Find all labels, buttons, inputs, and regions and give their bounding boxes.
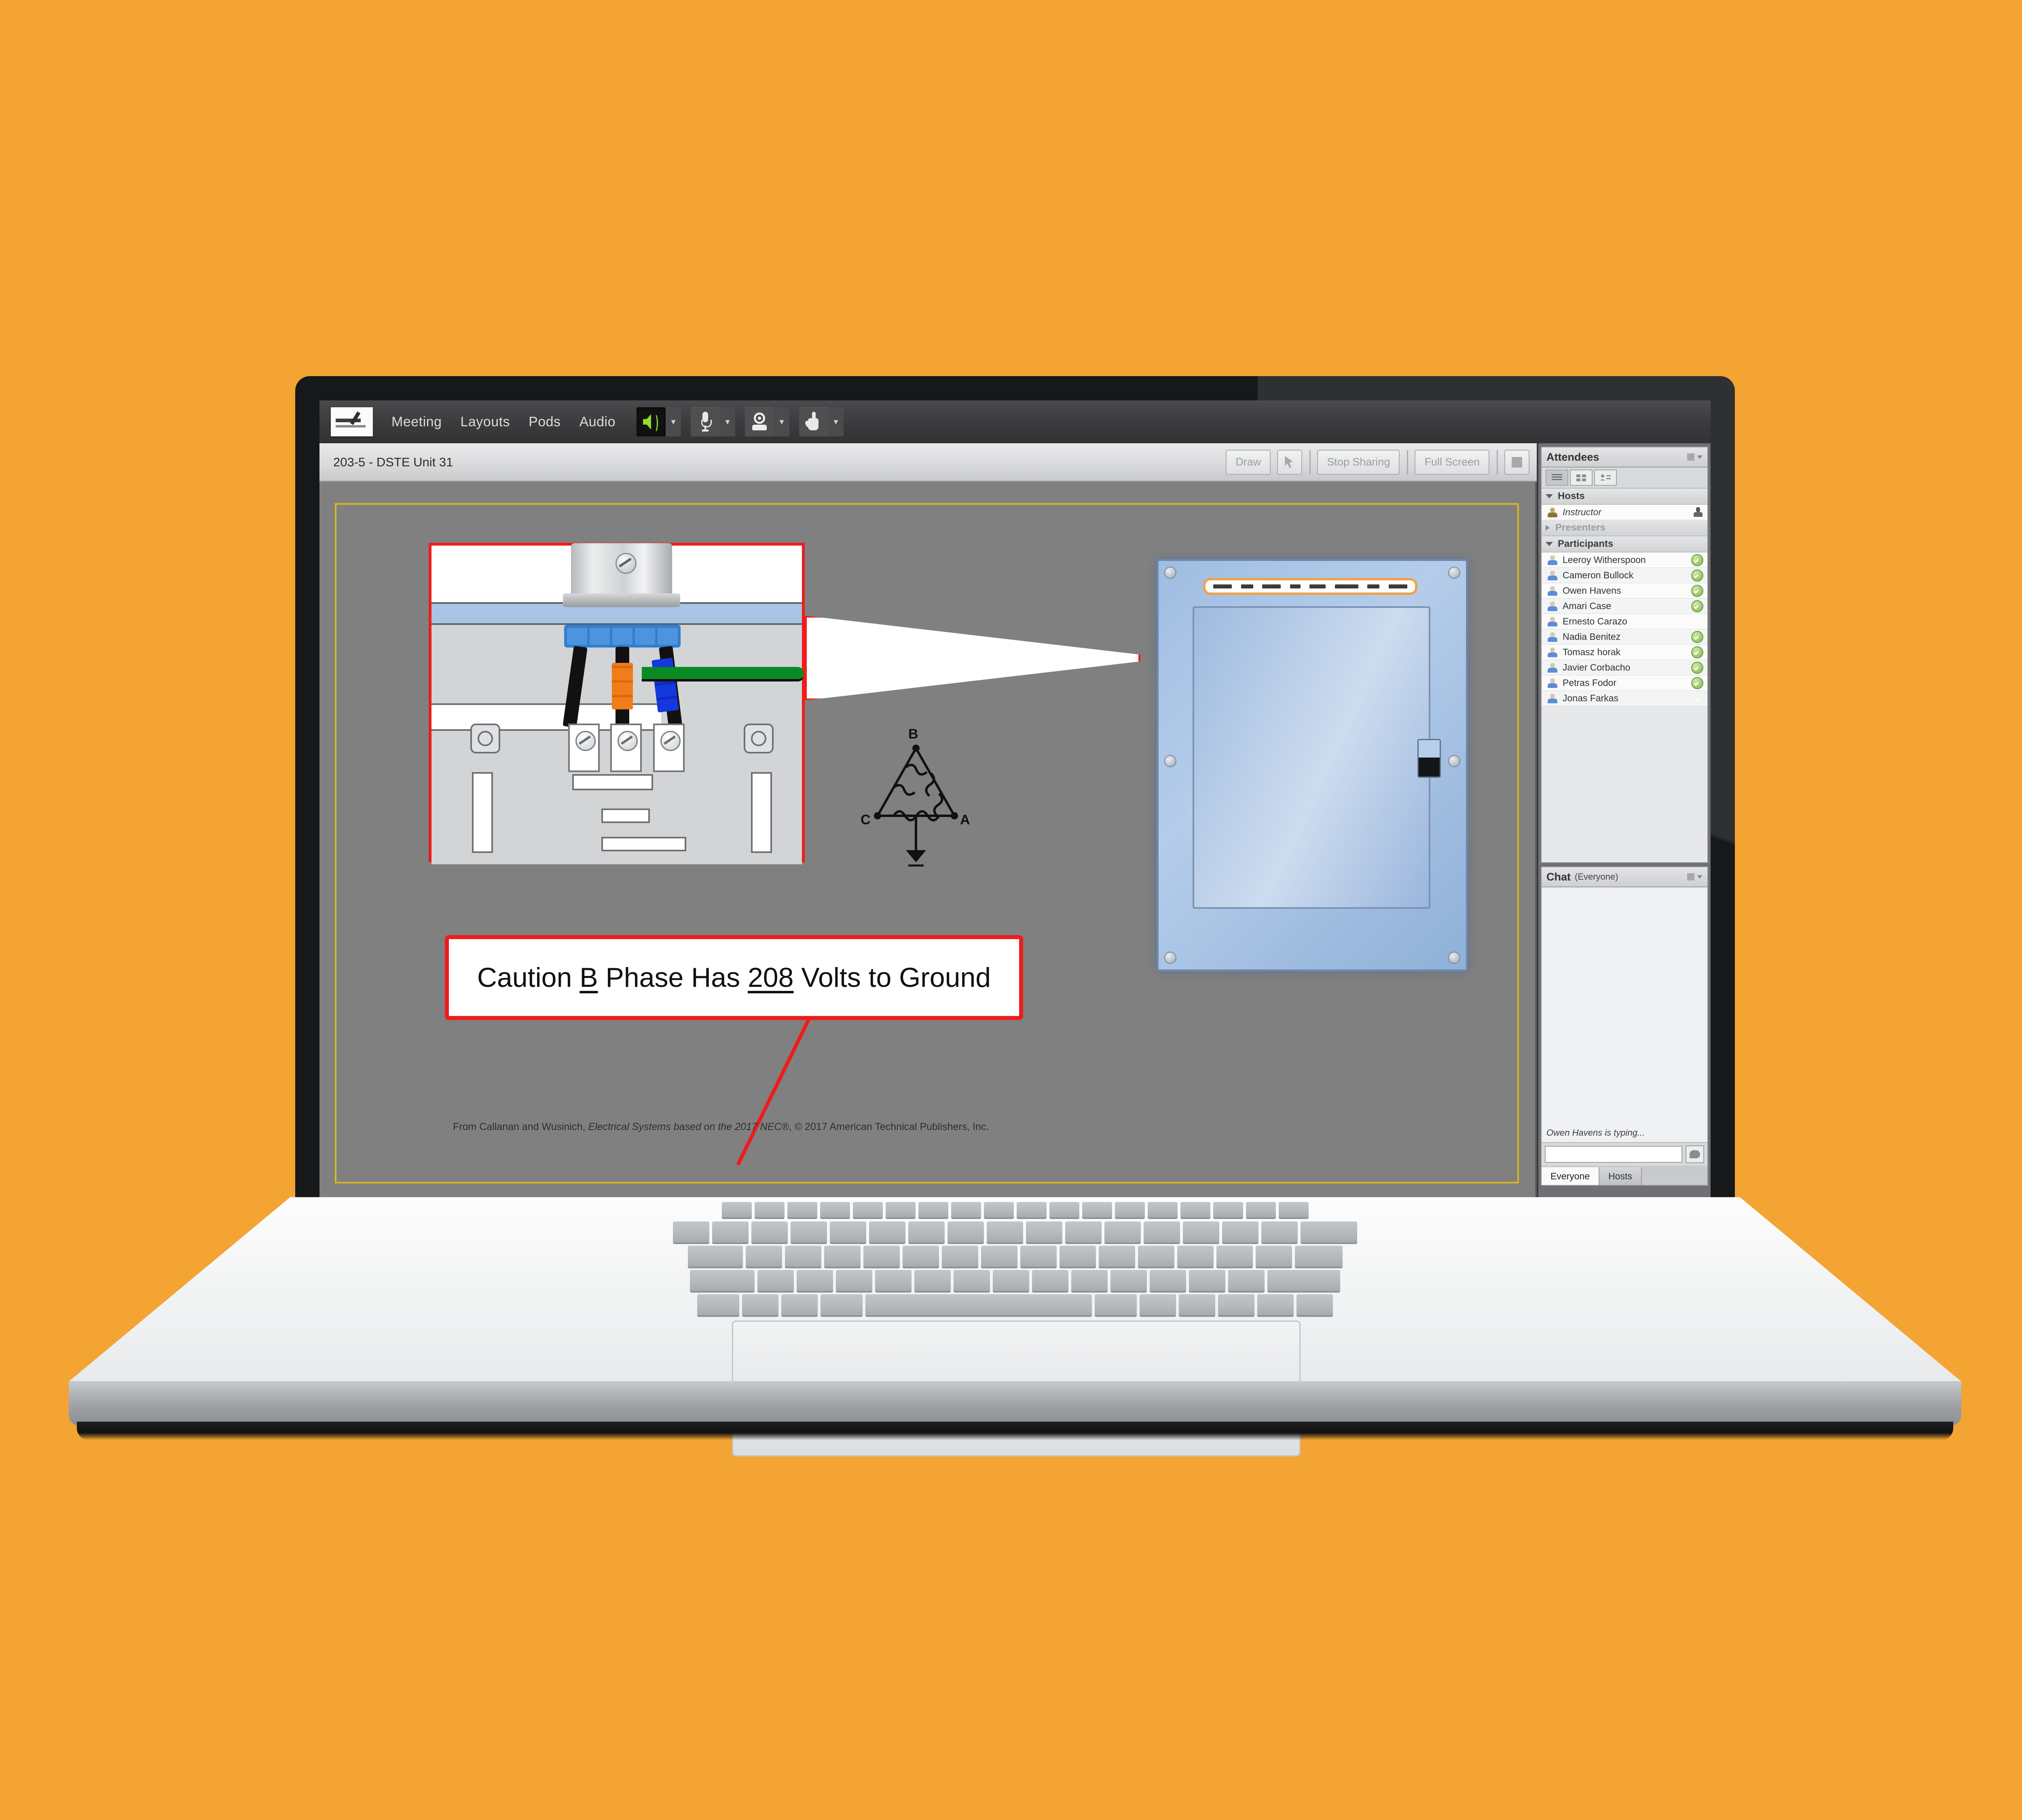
tab-everyone[interactable]: Everyone: [1542, 1167, 1599, 1185]
title-line-4: Interactive Lab: [1973, 624, 2022, 719]
speaker-icon: [643, 412, 659, 432]
keyboard-key[interactable]: [746, 1246, 782, 1267]
keyboard-key[interactable]: [1216, 1246, 1253, 1267]
keyboard-key[interactable]: [993, 1270, 1029, 1291]
delta-label-c: C: [861, 812, 871, 828]
grid-view-icon[interactable]: [1570, 470, 1593, 486]
chat-typing-status: Owen Havens is typing...: [1546, 1128, 1645, 1138]
keyboard-key[interactable]: [1179, 1294, 1215, 1315]
keyboard-key[interactable]: [673, 1221, 709, 1242]
attendees-pod-title: Attendees: [1546, 451, 1599, 463]
raise-hand-dropdown-caret[interactable]: ▾: [828, 407, 844, 436]
chevron-down-icon: [1697, 455, 1703, 459]
keyboard-row: [69, 1202, 1961, 1217]
panelboard-illustration: [1157, 559, 1468, 971]
chevron-right-icon: [1546, 525, 1550, 531]
keyboard-key[interactable]: [869, 1221, 905, 1242]
keyboard-key[interactable]: [1246, 1202, 1276, 1217]
keyboard-key[interactable]: [1020, 1246, 1057, 1267]
keyboard-key[interactable]: [1180, 1202, 1210, 1217]
keyboard-key[interactable]: [1026, 1221, 1062, 1242]
attendees-view-toolbar: [1542, 468, 1707, 489]
chat-pod-title: Chat: [1546, 871, 1571, 883]
keyboard-key[interactable]: [751, 1221, 788, 1242]
share-pod-title: 203-5 - DSTE Unit 31: [327, 455, 1219, 470]
keyboard-row: [69, 1246, 1961, 1267]
keyboard-key[interactable]: [1140, 1294, 1176, 1315]
attendee-name: Ernesto Carazo: [1563, 616, 1627, 627]
full-screen-button[interactable]: Full Screen: [1415, 450, 1489, 475]
keyboard-key[interactable]: [875, 1270, 912, 1291]
keyboard-key[interactable]: [1065, 1221, 1102, 1242]
attendee-name: Javier Corbacho: [1563, 662, 1630, 673]
participant-avatar-icon: [1547, 632, 1558, 642]
mounting-screw-right: [744, 724, 774, 753]
keyboard-key[interactable]: [954, 1270, 990, 1291]
chevron-down-icon: [1546, 542, 1553, 546]
agree-status-icon: [1691, 677, 1703, 689]
keyboard-row: [69, 1294, 1961, 1315]
keyboard-key[interactable]: [1213, 1202, 1243, 1217]
delta-transformer-diagram: B C A: [829, 729, 1003, 891]
keyboard-key[interactable]: [865, 1294, 1092, 1315]
title-line-3: with Online: [1973, 529, 2022, 624]
attendee-row[interactable]: Leeroy Witherspoon: [1542, 552, 1707, 568]
attendee-name: Jonas Farkas: [1563, 693, 1618, 704]
keyboard-key[interactable]: [797, 1270, 833, 1291]
participant-list: Leeroy WitherspoonCameron BullockOwen Ha…: [1542, 552, 1707, 706]
delta-label-b: B: [908, 726, 918, 742]
keyboard-key[interactable]: [821, 1294, 863, 1315]
keyboard-key[interactable]: [1301, 1221, 1357, 1242]
keyboard-key[interactable]: [948, 1221, 984, 1242]
chat-scope-tabs: Everyone Hosts: [1542, 1166, 1707, 1185]
busbar-link-3: [601, 837, 686, 851]
participant-avatar-icon: [1547, 647, 1558, 658]
attendees-pod-menu-button[interactable]: [1687, 453, 1703, 461]
attendee-row[interactable]: Ernesto Carazo: [1542, 614, 1707, 629]
keyboard-key[interactable]: [984, 1202, 1014, 1217]
attendee-row[interactable]: Amari Case: [1542, 599, 1707, 614]
participant-avatar-icon: [1547, 586, 1558, 596]
pointer-button[interactable]: [1277, 450, 1302, 475]
keyboard-key[interactable]: [824, 1246, 861, 1267]
chevron-down-icon: [1697, 875, 1703, 879]
title-line-1: GetWired 203: [1973, 340, 2022, 434]
keyboard-key[interactable]: [1148, 1202, 1178, 1217]
keyboard-key[interactable]: [987, 1221, 1023, 1242]
keyboard-key[interactable]: [1257, 1294, 1294, 1315]
host-role-badge-icon: [1693, 507, 1703, 518]
terminal-a: [568, 724, 600, 772]
breaker-connector: [564, 625, 681, 648]
attendee-name: Instructor: [1563, 507, 1601, 518]
tab-hosts[interactable]: Hosts: [1599, 1167, 1642, 1185]
caution-text: Caution B Phase Has 208 Volts to Ground: [477, 962, 991, 993]
right-pod-column: Attendees: [1538, 443, 1711, 1197]
speaker-button[interactable]: [637, 407, 666, 436]
webcam-dropdown-caret[interactable]: ▾: [774, 407, 789, 436]
keyboard-key[interactable]: [886, 1202, 916, 1217]
attendee-row-instructor[interactable]: Instructor: [1542, 505, 1707, 520]
attendee-name: Leeroy Witherspoon: [1563, 554, 1646, 565]
keyboard-key[interactable]: [712, 1221, 749, 1242]
keyboard-key[interactable]: [722, 1202, 752, 1217]
list-view-icon[interactable]: [1546, 470, 1568, 486]
attendee-row[interactable]: Nadia Benitez: [1542, 629, 1707, 645]
keyboard-key[interactable]: [903, 1246, 939, 1267]
microphone-icon: [701, 412, 709, 432]
keyboard-key[interactable]: [1189, 1270, 1225, 1291]
busbar-link-1: [572, 774, 653, 790]
orange-phase-tape: [612, 663, 633, 709]
attendee-row[interactable]: Cameron Bullock: [1542, 568, 1707, 583]
keyboard-key[interactable]: [1218, 1294, 1254, 1315]
ground-wire: [642, 667, 804, 681]
keyboard-key[interactable]: [1150, 1270, 1186, 1291]
group-header-participants[interactable]: Participants: [1542, 536, 1707, 552]
agree-status-icon: [1691, 646, 1703, 658]
attendee-row[interactable]: Javier Corbacho: [1542, 660, 1707, 675]
agree-status-icon: [1691, 585, 1703, 597]
keyboard-key[interactable]: [787, 1202, 817, 1217]
keyboard-key[interactable]: [781, 1294, 818, 1315]
adobe-connect-app: Meeting Layouts Pods Audio ▾ ▾: [319, 400, 1711, 1197]
agree-status-icon: [1691, 554, 1703, 566]
share-pod-menu-button[interactable]: [1504, 450, 1529, 475]
delta-label-a: A: [960, 812, 970, 828]
host-avatar-icon: [1547, 507, 1558, 518]
chat-bubble-icon: [1690, 1150, 1700, 1158]
menu-item-pods[interactable]: Pods: [529, 414, 561, 430]
adobe-connect-logo-icon: [331, 407, 373, 436]
keyboard-key[interactable]: [1144, 1221, 1180, 1242]
keyboard-key[interactable]: [1049, 1202, 1079, 1217]
keyboard-key[interactable]: [836, 1270, 872, 1291]
busbar-right: [751, 772, 772, 853]
share-pod-stage: B C A Caution B Phase Has 208 Volts to G…: [319, 482, 1537, 1197]
attendee-name: Tomasz horak: [1563, 647, 1620, 658]
participant-avatar-icon: [1547, 555, 1558, 565]
keyboard-key[interactable]: [1256, 1246, 1292, 1267]
keyboard-key[interactable]: [1032, 1270, 1068, 1291]
group-header-presenters[interactable]: Presenters: [1542, 520, 1707, 536]
keyboard-key[interactable]: [1095, 1294, 1137, 1315]
chat-pod: Chat (Everyone) Owen Havens is typing...: [1541, 866, 1708, 1186]
panel-door: [1193, 606, 1430, 909]
menu-item-audio[interactable]: Audio: [580, 414, 615, 430]
keyboard-key[interactable]: [1115, 1202, 1145, 1217]
keyboard-key[interactable]: [1222, 1221, 1258, 1242]
keyboard-key[interactable]: [1071, 1270, 1108, 1291]
keyboard-key[interactable]: [853, 1202, 883, 1217]
laptop-mockup: Meeting Layouts Pods Audio ▾ ▾: [69, 376, 1961, 1452]
attendee-name: Amari Case: [1563, 601, 1611, 612]
toolbar-divider: [1407, 450, 1408, 474]
keyboard-key[interactable]: [1228, 1270, 1265, 1291]
keyboard-key[interactable]: [755, 1202, 785, 1217]
attendee-name: Petras Fodor: [1563, 677, 1616, 688]
keyboard-key[interactable]: [1138, 1246, 1174, 1267]
group-label-presenters: Presenters: [1555, 522, 1605, 533]
laptop-front-edge: [69, 1381, 1961, 1426]
keyboard-key[interactable]: [1110, 1270, 1147, 1291]
keyboard-key[interactable]: [1267, 1270, 1340, 1291]
keyboard-key[interactable]: [918, 1202, 948, 1217]
keyboard-key[interactable]: [1183, 1221, 1219, 1242]
participant-avatar-icon: [1547, 662, 1558, 673]
attendee-name: Nadia Benitez: [1563, 631, 1620, 642]
participant-avatar-icon: [1547, 678, 1558, 688]
keyboard-key[interactable]: [1082, 1202, 1112, 1217]
chat-message-area[interactable]: Owen Havens is typing...: [1542, 887, 1707, 1142]
attendee-name: Owen Havens: [1563, 585, 1621, 596]
raise-hand-icon: [806, 412, 822, 432]
pod-menu-icon: [1687, 453, 1694, 461]
keyboard-key[interactable]: [690, 1270, 755, 1291]
breaker-slot-row: [1203, 578, 1417, 595]
keyboard-key[interactable]: [951, 1202, 981, 1217]
toolbar-divider: [1309, 450, 1311, 474]
slide-attribution: From Callanan and Wusinich, Electrical S…: [453, 1121, 989, 1133]
menu-item-meeting[interactable]: Meeting: [391, 414, 442, 430]
keyboard-row: [69, 1221, 1961, 1242]
keyboard-key[interactable]: [863, 1246, 900, 1267]
keyboard-key[interactable]: [1295, 1246, 1343, 1267]
chat-pod-menu-button[interactable]: [1687, 873, 1703, 880]
participant-avatar-icon: [1547, 616, 1558, 627]
keyboard-key[interactable]: [757, 1270, 794, 1291]
attendee-name: Cameron Bullock: [1563, 570, 1633, 581]
webcam-icon: [751, 413, 768, 431]
app-menubar: Meeting Layouts Pods Audio ▾ ▾: [319, 400, 1711, 443]
group-header-hosts[interactable]: Hosts: [1542, 489, 1707, 505]
no-status: [1693, 693, 1703, 704]
menu-item-layouts[interactable]: Layouts: [460, 414, 510, 430]
chat-input[interactable]: [1545, 1146, 1682, 1163]
keyboard-key[interactable]: [1261, 1221, 1298, 1242]
speaker-dropdown-caret[interactable]: ▾: [666, 407, 681, 436]
chevron-down-icon: [1546, 494, 1553, 498]
keyboard-row: [69, 1270, 1961, 1291]
keyboard-key[interactable]: [1279, 1202, 1309, 1217]
keyboard-key[interactable]: [942, 1246, 978, 1267]
attendees-pod: Attendees: [1541, 447, 1708, 863]
terminal-c: [653, 724, 685, 772]
keyboard-key[interactable]: [820, 1202, 850, 1217]
stop-sharing-button[interactable]: Stop Sharing: [1317, 450, 1400, 475]
mounting-screw-left: [470, 724, 500, 753]
keyboard-key[interactable]: [1104, 1221, 1141, 1242]
keyboard-key[interactable]: [785, 1246, 821, 1267]
laptop-keyboard[interactable]: [69, 1197, 1961, 1318]
title-line-5: Experience): [1973, 719, 2022, 813]
attendee-row[interactable]: Tomasz horak: [1542, 645, 1707, 660]
pointer-icon: [1285, 456, 1294, 468]
attendee-row[interactable]: Jonas Farkas: [1542, 691, 1707, 706]
keyboard-key[interactable]: [914, 1270, 951, 1291]
laptop-screen: Meeting Layouts Pods Audio ▾ ▾: [319, 400, 1711, 1197]
webcam-button[interactable]: [745, 407, 774, 436]
name-sort-icon[interactable]: [1594, 470, 1617, 486]
toolbar-divider: [1497, 450, 1498, 474]
keyboard-key[interactable]: [981, 1246, 1017, 1267]
busbar-left: [472, 772, 493, 853]
agree-status-icon: [1691, 662, 1703, 674]
participant-avatar-icon: [1547, 693, 1558, 704]
title-line-2: (Instructor-Led: [1973, 434, 2022, 529]
group-label-hosts: Hosts: [1558, 491, 1585, 502]
microphone-dropdown-caret[interactable]: ▾: [720, 407, 735, 436]
chat-send-button[interactable]: [1686, 1145, 1704, 1163]
draw-button[interactable]: Draw: [1226, 450, 1271, 475]
keyboard-key[interactable]: [1060, 1246, 1096, 1267]
pod-menu-icon: [1687, 873, 1694, 880]
attendees-pod-header: Attendees: [1542, 447, 1707, 468]
chat-pod-header: Chat (Everyone): [1542, 867, 1707, 887]
panel-latch: [1417, 739, 1441, 778]
caution-callout-box: Caution B Phase Has 208 Volts to Ground: [445, 935, 1023, 1020]
keyboard-key[interactable]: [688, 1246, 743, 1267]
keyboard-key[interactable]: [1099, 1246, 1135, 1267]
agree-status-icon: [1691, 600, 1703, 612]
attendee-row[interactable]: Owen Havens: [1542, 583, 1707, 599]
group-label-participants: Participants: [1558, 538, 1613, 550]
keyboard-key[interactable]: [1177, 1246, 1214, 1267]
participant-avatar-icon: [1547, 570, 1558, 581]
toolbar-speaker-group: ▾ ▾ ▾ ▾: [637, 407, 853, 436]
pod-menu-icon: [1512, 457, 1522, 468]
keyboard-key[interactable]: [830, 1221, 866, 1242]
laptop-base-shadow: [77, 1422, 1953, 1440]
keyboard-key[interactable]: [908, 1221, 945, 1242]
agree-status-icon: [1691, 631, 1703, 643]
attendee-row[interactable]: Petras Fodor: [1542, 675, 1707, 691]
page-title: GetWired 203 (Instructor-Led with Online…: [1973, 340, 2022, 814]
chat-pod-scope: (Everyone): [1575, 872, 1618, 882]
keyboard-key[interactable]: [697, 1294, 739, 1315]
agree-status-icon: [1691, 569, 1703, 582]
busbar-link-2: [601, 808, 650, 823]
microphone-button[interactable]: [691, 407, 720, 436]
participant-avatar-icon: [1547, 601, 1558, 612]
keyboard-key[interactable]: [1297, 1294, 1333, 1315]
breaker-closeup-diagram: [429, 543, 805, 862]
no-status: [1693, 616, 1703, 627]
keyboard-key[interactable]: [742, 1294, 778, 1315]
keyboard-key[interactable]: [791, 1221, 827, 1242]
share-pod-toolbar: 203-5 - DSTE Unit 31 Draw Stop Sharing F…: [319, 443, 1537, 482]
raise-hand-button[interactable]: [799, 407, 828, 436]
terminal-b: [610, 724, 642, 772]
chat-input-row: [1542, 1142, 1707, 1166]
keyboard-key[interactable]: [1017, 1202, 1047, 1217]
